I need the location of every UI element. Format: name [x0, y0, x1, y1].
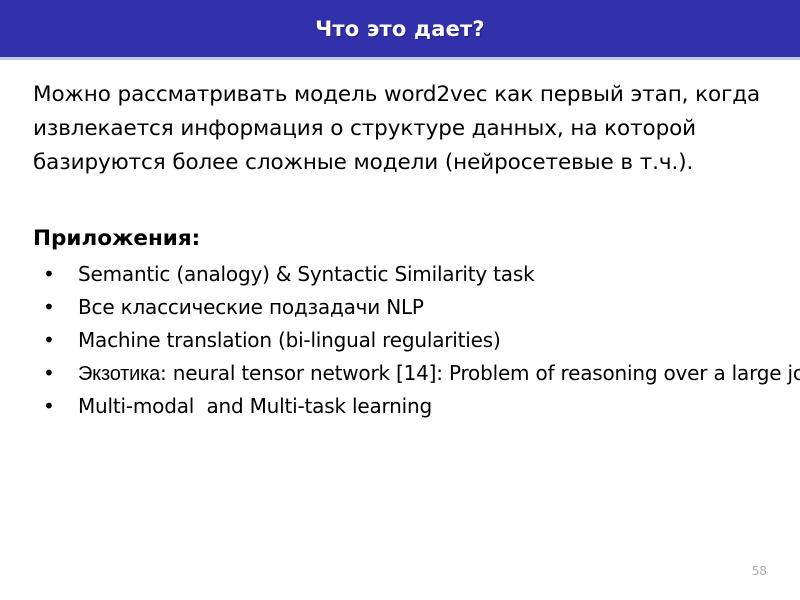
- title-band-underline: [0, 57, 800, 60]
- list-item: • Все классические подзадачи NLP: [33, 291, 773, 324]
- applications-heading: Приложения:: [33, 180, 773, 254]
- slide: Что это дает? Можно рассматривать модель…: [0, 0, 800, 600]
- applications-bullet-list: • Semantic (analogy) & Syntactic Similar…: [33, 254, 773, 423]
- page-title: Что это дает?: [0, 0, 800, 57]
- bullet-icon: •: [43, 258, 55, 290]
- list-item: • Machine translation (bi-lingual regula…: [33, 324, 773, 357]
- list-item: • Multi-modal and Multi-task learning: [33, 390, 773, 423]
- slide-body: Можно рассматривать модель word2vec как …: [33, 78, 773, 423]
- bullet-icon: •: [43, 291, 55, 323]
- list-item: • Экзотика: neural tensor network [14]: …: [33, 357, 773, 390]
- bullet-icon: •: [43, 324, 55, 356]
- intro-paragraph: Можно рассматривать модель word2vec как …: [33, 78, 773, 180]
- page-number: 58: [752, 564, 767, 578]
- list-item-label: Все классические подзадачи NLP: [78, 295, 424, 319]
- list-item: • Semantic (analogy) & Syntactic Similar…: [33, 258, 773, 291]
- bullet-icon: •: [43, 390, 55, 422]
- list-item-label: Multi-modal and Multi-task learning: [78, 394, 432, 418]
- list-item-label: Machine translation (bi-lingual regulari…: [78, 328, 501, 352]
- bullet-icon: •: [43, 357, 55, 389]
- list-item-lead: Экзотика: [78, 363, 160, 385]
- list-item-label: : neural tensor network [14]: Problem of…: [160, 361, 800, 385]
- list-item-label: Semantic (analogy) & Syntactic Similarit…: [78, 262, 534, 286]
